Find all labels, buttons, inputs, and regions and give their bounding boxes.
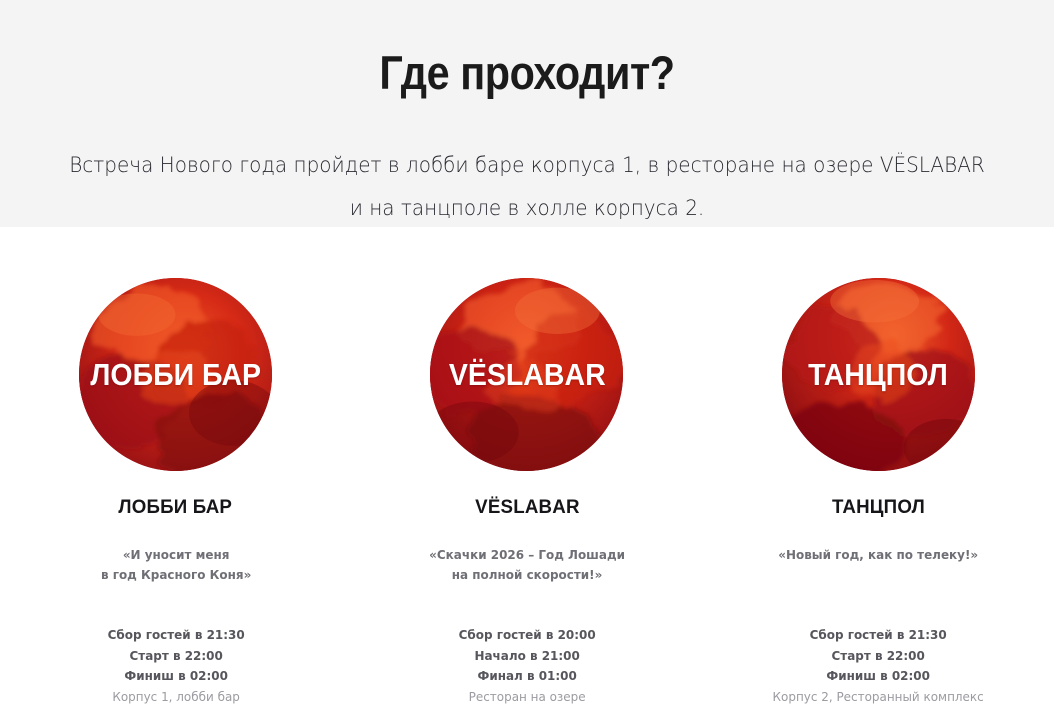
venue-card-quote-line: «Скачки 2026 – Год Лошади <box>429 545 625 565</box>
venue-card-schedule: Сбор гостей в 21:30 Старт в 22:00 Финиш … <box>767 625 989 707</box>
venue-card-title: ЛОББИ БАР <box>119 496 233 518</box>
schedule-line: Сбор гостей в 21:30 <box>773 625 984 646</box>
hero-description: Встреча Нового года пройдет в лобби баре… <box>62 144 992 230</box>
venue-card-quote-line: в год Красного Коня» <box>100 565 250 585</box>
venue-card-media-label: ТАНЦПОЛ <box>808 359 948 390</box>
schedule-line: Сбор гостей в 21:30 <box>107 625 244 646</box>
schedule-line: Финиш в 02:00 <box>773 666 984 687</box>
hero-description-line-2: и на танцполе в холле корпуса 2. <box>350 196 705 221</box>
schedule-line: Финал в 01:00 <box>458 666 595 687</box>
venue-card-dancefloor[interactable]: ТАНЦПОЛ ТАНЦПОЛ «Новый год, как по телек… <box>703 227 1054 707</box>
venue-card-title: ТАНЦПОЛ <box>832 496 925 518</box>
schedule-line: Финиш в 02:00 <box>107 666 244 687</box>
schedule-line: Начало в 21:00 <box>458 646 595 667</box>
venue-card-media[interactable]: VËSLABAR <box>430 278 623 471</box>
venue-card-lobby-bar[interactable]: ЛОББИ БАР ЛОББИ БАР «И уносит меня в год… <box>0 227 351 707</box>
hero-description-line-1: Встреча Нового года пройдет в лобби баре… <box>69 153 985 178</box>
schedule-line: Старт в 22:00 <box>107 646 244 667</box>
venue-card-title: VËSLABAR <box>475 496 580 518</box>
schedule-line: Сбор гостей в 20:00 <box>458 625 595 646</box>
venue-card-schedule: Сбор гостей в 20:00 Начало в 21:00 Финал… <box>455 625 599 707</box>
venue-card-quote: «Скачки 2026 – Год Лошади на полной скор… <box>429 545 625 585</box>
venue-location: Корпус 1, лобби бар <box>107 687 244 707</box>
venue-card-quote-line: «Новый год, как по телеку!» <box>778 545 978 565</box>
page-title: Где проходит? <box>63 45 991 101</box>
venue-card-quote-line: «И уносит меня <box>100 545 250 565</box>
venue-card-quote: «И уносит меня в год Красного Коня» <box>100 545 250 585</box>
venue-card-media-label: VËSLABAR <box>448 359 605 390</box>
schedule-line: Старт в 22:00 <box>773 646 984 667</box>
venue-cards-row: ЛОББИ БАР ЛОББИ БАР «И уносит меня в год… <box>0 227 1054 706</box>
venue-card-quote: «Новый год, как по телеку!» <box>778 545 978 565</box>
venue-card-veslabar[interactable]: VËSLABAR VËSLABAR «Скачки 2026 – Год Лош… <box>351 227 702 707</box>
venue-card-media[interactable]: ЛОББИ БАР <box>79 278 272 471</box>
venue-card-media-label: ЛОББИ БАР <box>90 359 261 390</box>
venue-card-quote-line: на полной скорости!» <box>429 565 625 585</box>
venue-location: Корпус 2, Ресторанный комплекс <box>773 687 984 707</box>
hero-section: Где проходит? Встреча Нового года пройде… <box>0 0 1054 227</box>
venue-card-media[interactable]: ТАНЦПОЛ <box>782 278 975 471</box>
venue-card-schedule: Сбор гостей в 21:30 Старт в 22:00 Финиш … <box>104 625 248 707</box>
venue-location: Ресторан на озере <box>458 687 595 707</box>
